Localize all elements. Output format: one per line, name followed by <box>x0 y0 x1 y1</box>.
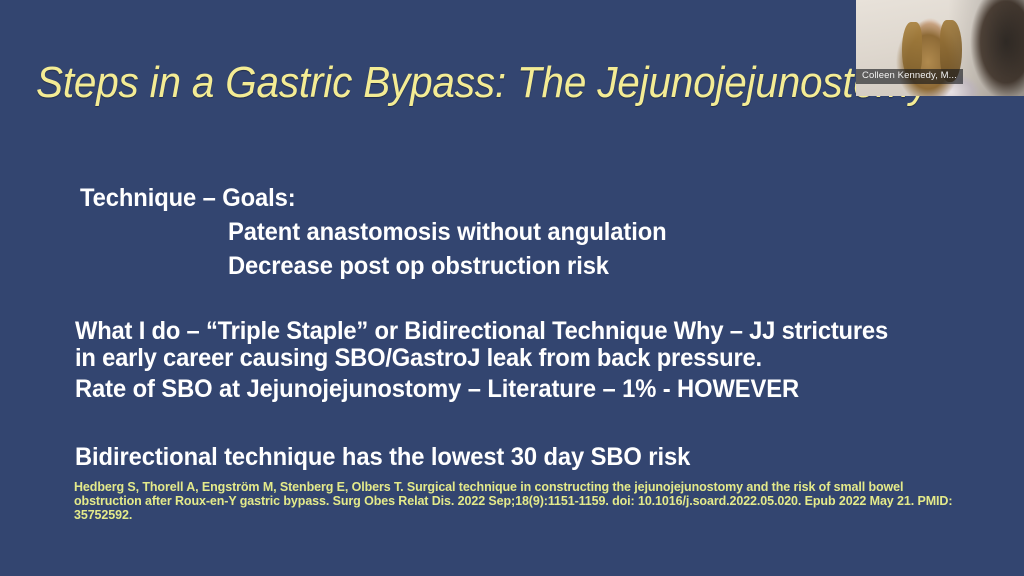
body-line-what-i-do-1: What I do – “Triple Staple” or Bidirecti… <box>75 318 930 345</box>
citation-reference: Hedberg S, Thorell A, Engström M, Stenbe… <box>74 480 954 522</box>
slide-title: Steps in a Gastric Bypass: The Jejunojej… <box>36 58 919 108</box>
body-line-goal-1: Patent anastomosis without angulation <box>228 218 667 246</box>
webcam-video-thumbnail[interactable]: Colleen Kennedy, M... <box>856 0 1024 96</box>
body-paragraph-what-i-do: What I do – “Triple Staple” or Bidirecti… <box>75 318 930 372</box>
webcam-participant-name-label: Colleen Kennedy, M... <box>856 69 963 84</box>
body-line-what-i-do-2: in early career causing SBO/GastroJ leak… <box>75 345 930 372</box>
body-line-goal-2: Decrease post op obstruction risk <box>228 252 609 280</box>
body-line-rate-of-sbo: Rate of SBO at Jejunojejunostomy – Liter… <box>75 375 799 403</box>
presentation-slide: Steps in a Gastric Bypass: The Jejunojej… <box>0 0 1024 576</box>
body-line-technique-goals: Technique – Goals: <box>80 184 296 212</box>
body-line-conclusion: Bidirectional technique has the lowest 3… <box>75 443 690 471</box>
